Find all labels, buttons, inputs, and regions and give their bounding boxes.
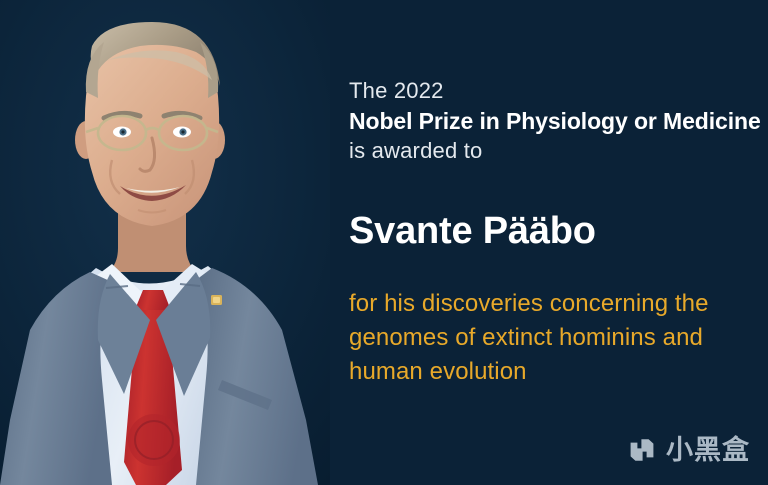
announcement-text-column: The 2022 Nobel Prize in Physiology or Me… xyxy=(349,0,749,485)
site-watermark: 小黑盒 xyxy=(627,435,750,465)
citation-line-1: for his discoveries concerning the xyxy=(349,292,749,316)
citation-block: for his discoveries concerning the genom… xyxy=(349,292,749,384)
portrait-illustration xyxy=(0,0,330,485)
award-year-line: The 2022 xyxy=(349,80,749,102)
xiaoheihe-h-logo-icon xyxy=(627,435,657,465)
nobel-prize-announcement-card: The 2022 Nobel Prize in Physiology or Me… xyxy=(0,0,768,485)
laureate-portrait xyxy=(0,0,330,485)
award-heading-block: The 2022 Nobel Prize in Physiology or Me… xyxy=(349,80,749,162)
citation-line-2: genomes of extinct hominins and xyxy=(349,326,749,350)
lapel-pin-icon xyxy=(211,295,222,305)
laureate-name: Svante Pääbo xyxy=(349,212,749,250)
award-prize-line: Nobel Prize in Physiology or Medicine xyxy=(349,110,749,133)
citation-line-3: human evolution xyxy=(349,360,749,384)
award-awarded-line: is awarded to xyxy=(349,140,749,162)
watermark-text: 小黑盒 xyxy=(666,437,750,464)
